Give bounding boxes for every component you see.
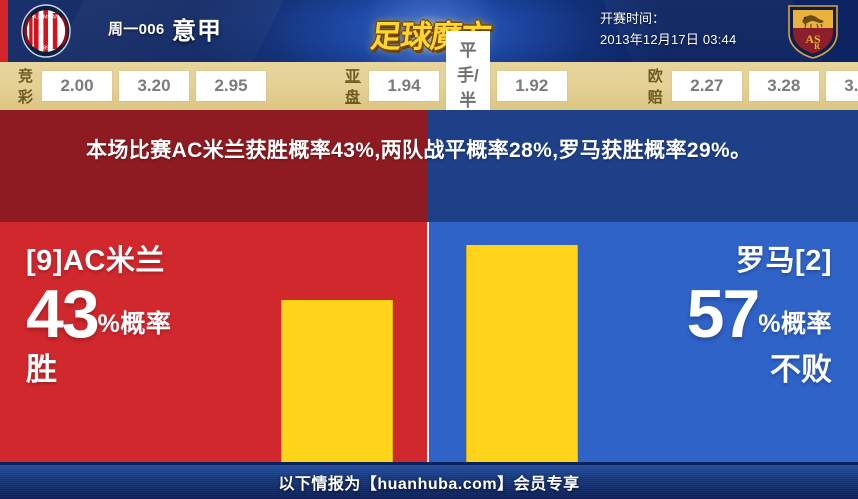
ac-milan-crest-icon: A.C.MILAN 1899 xyxy=(20,4,72,58)
odds-cell-away[interactable]: 1.92 xyxy=(497,71,567,101)
home-team-name: [9]AC米兰 xyxy=(26,244,171,278)
league-name: 意甲 xyxy=(172,11,222,46)
away-team-block: 罗马[2] 57 %概率 不败 xyxy=(687,244,832,388)
odds-cell-home[interactable]: 2.27 xyxy=(672,71,742,101)
odds-group-jingcai: 竞彩 2.00 3.20 2.95 xyxy=(18,65,273,107)
kickoff-info: 开赛时间： 2013年12月17日 03:44 xyxy=(600,8,736,50)
odds-cell-draw[interactable]: 3.28 xyxy=(749,71,819,101)
footer-top-rule xyxy=(0,462,858,465)
odds-group-label: 竞彩 xyxy=(18,65,34,107)
as-roma-crest-icon: AS R xyxy=(784,3,842,59)
odds-group-label: 欧赔 xyxy=(648,65,664,107)
footer-text: 以下情报为【huanhuba.com】会员专享 xyxy=(0,470,858,494)
odds-cell-away[interactable]: 2.95 xyxy=(196,71,266,101)
odds-cell-home[interactable]: 1.94 xyxy=(369,71,439,101)
away-probability-bar xyxy=(466,245,578,462)
kickoff-label: 开赛时间： xyxy=(600,8,736,29)
match-probability-infographic: A.C.MILAN 1899 周一006 意甲 足球魔方 开赛时间： 2013年… xyxy=(0,0,858,499)
odds-bar: 竞彩 2.00 3.20 2.95 亚盘 1.94 平手/半球 1.92 欧赔 … xyxy=(0,62,858,110)
svg-text:R: R xyxy=(814,42,820,51)
away-outcome-label: 不败 xyxy=(687,352,832,388)
odds-group-label[interactable]: 亚盘 xyxy=(345,65,361,107)
away-percent-suffix: %概率 xyxy=(758,307,832,346)
odds-cell-home[interactable]: 2.00 xyxy=(42,71,112,101)
odds-group-oupei: 欧赔 2.27 3.28 3.06 xyxy=(648,65,858,107)
summary-banner: 本场比赛AC米兰获胜概率43%,两队战平概率28%,罗马获胜概率29%。 xyxy=(0,110,858,222)
summary-text: 本场比赛AC米兰获胜概率43%,两队战平概率28%,罗马获胜概率29%。 xyxy=(0,110,858,222)
probability-panels: [9]AC米兰 43 %概率 胜 罗马[2] 57 %概率 不败 xyxy=(0,222,858,462)
kickoff-time: 2013年12月17日 03:44 xyxy=(600,29,736,50)
panel-divider xyxy=(427,222,429,462)
home-percent-value: 43 xyxy=(26,282,98,346)
svg-text:1899: 1899 xyxy=(40,46,52,52)
home-percent-suffix: %概率 xyxy=(98,307,172,346)
home-probability-bar xyxy=(281,300,393,462)
header-accent-strip xyxy=(0,0,8,62)
svg-text:A.C.MILAN: A.C.MILAN xyxy=(33,15,59,21)
home-percent-row: 43 %概率 xyxy=(26,282,171,346)
away-percent-row: 57 %概率 xyxy=(687,282,832,346)
odds-cell-away[interactable]: 3.06 xyxy=(826,71,858,101)
match-number: 周一006 xyxy=(108,18,165,39)
away-team-name: 罗马[2] xyxy=(687,244,832,278)
odds-cell-draw[interactable]: 3.20 xyxy=(119,71,189,101)
away-percent-value: 57 xyxy=(687,282,759,346)
home-team-block: [9]AC米兰 43 %概率 胜 xyxy=(26,244,171,388)
home-outcome-label: 胜 xyxy=(26,352,171,388)
footer-bar: 以下情报为【huanhuba.com】会员专享 xyxy=(0,462,858,499)
